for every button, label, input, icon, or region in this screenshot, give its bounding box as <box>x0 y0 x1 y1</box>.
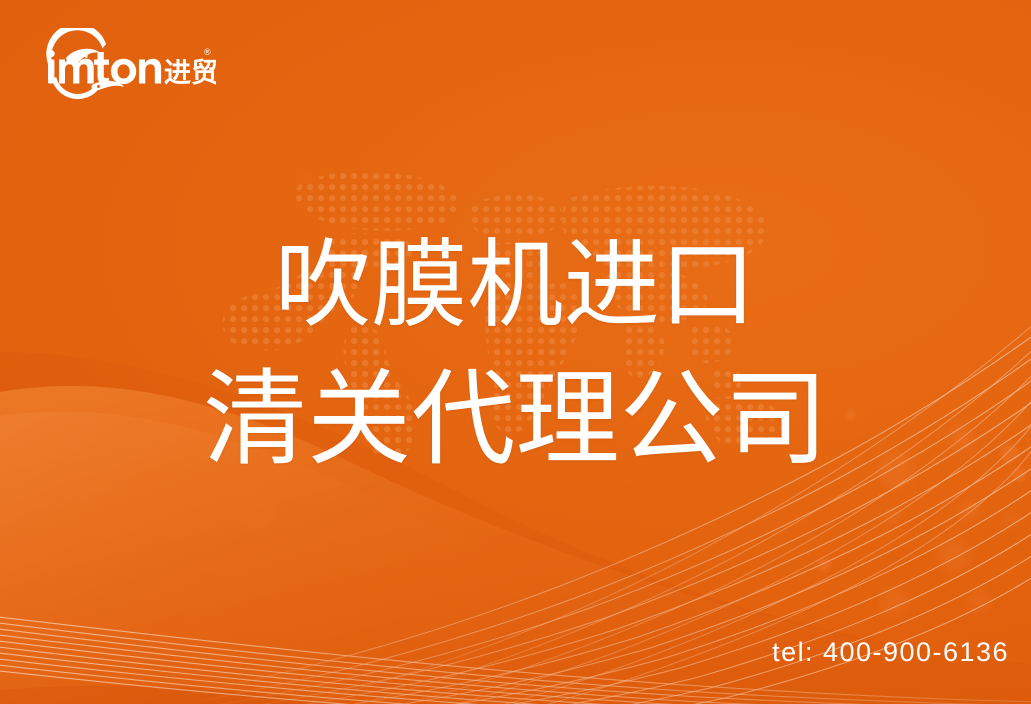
registered-trademark-icon: ® <box>204 47 211 57</box>
logo-wordmark-latin <box>48 50 161 84</box>
logo-wordmark-cjk: 进贸通 <box>164 58 216 89</box>
contact-phone[interactable]: tel: 400-900-6136 <box>772 637 1009 668</box>
headline-line-2: 清关代理公司 <box>0 362 1031 478</box>
brand-logo[interactable]: 进贸通 ® <box>36 28 216 104</box>
logo-cjk-text: 进贸通 <box>164 58 216 89</box>
poster-canvas: 进贸通 ® 吹膜机进口 清关代理公司 tel: 400-900-6136 <box>0 0 1031 704</box>
page-title: 吹膜机进口 清关代理公司 <box>0 232 1031 478</box>
headline-line-1: 吹膜机进口 <box>0 232 1031 340</box>
